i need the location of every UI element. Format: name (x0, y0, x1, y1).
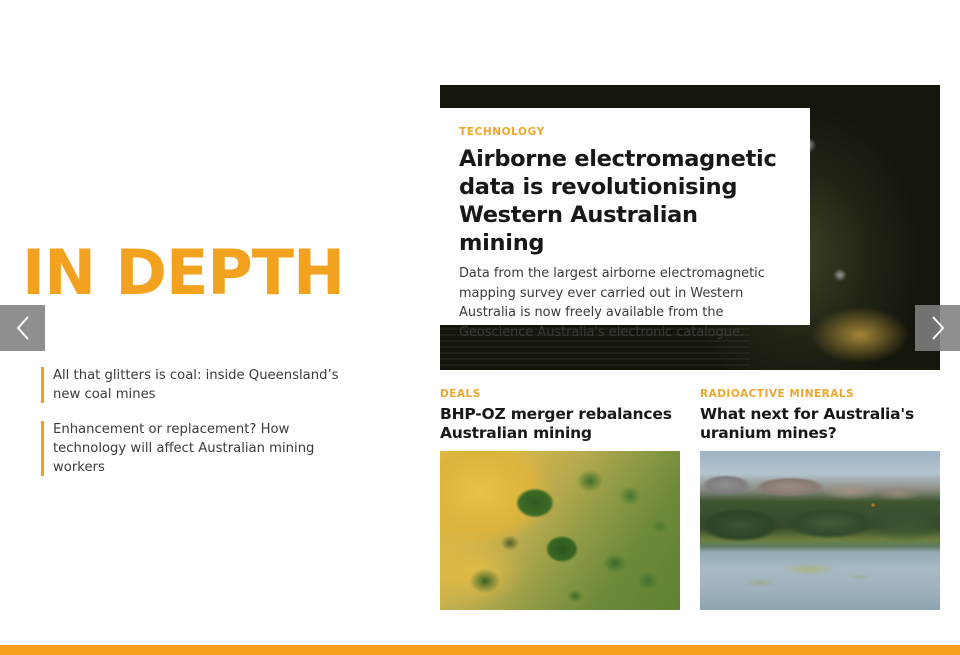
card-headline: What next for Australia's uranium mines? (700, 405, 940, 443)
hero-standfirst: Data from the largest airborne electroma… (459, 264, 788, 342)
footer-accent-bar (0, 645, 960, 655)
page-title: IN DEPTH (22, 242, 344, 304)
related-articles-list: All that glitters is coal: inside Queens… (41, 366, 361, 493)
card-kicker: RADIOACTIVE MINERALS (700, 388, 940, 400)
article-card-radioactive-minerals[interactable]: RADIOACTIVE MINERALS What next for Austr… (700, 388, 940, 610)
card-thumbnail-aerial-mine (440, 451, 680, 610)
carousel-prev-button[interactable] (0, 305, 45, 351)
left-panel: IN DEPTH All that glitters is coal: insi… (0, 0, 440, 640)
article-card-deals[interactable]: DEALS BHP-OZ merger rebalances Australia… (440, 388, 680, 610)
hero-kicker: TECHNOLOGY (459, 126, 788, 138)
hero-article-card[interactable]: TECHNOLOGY Airborne electromagnetic data… (440, 108, 810, 325)
secondary-article-cards: DEALS BHP-OZ merger rebalances Australia… (440, 388, 940, 610)
hero-headline: Airborne electromagnetic data is revolut… (459, 145, 788, 257)
list-item[interactable]: All that glitters is coal: inside Queens… (41, 366, 361, 404)
chevron-right-icon (930, 315, 946, 341)
in-depth-carousel-section: IN DEPTH All that glitters is coal: insi… (0, 0, 960, 655)
carousel-next-button[interactable] (915, 305, 960, 351)
card-thumbnail-billabong (700, 451, 940, 610)
card-headline: BHP-OZ merger rebalances Australian mini… (440, 405, 680, 443)
chevron-left-icon (15, 315, 31, 341)
card-kicker: DEALS (440, 388, 680, 400)
list-item[interactable]: Enhancement or replacement? How technolo… (41, 420, 361, 477)
